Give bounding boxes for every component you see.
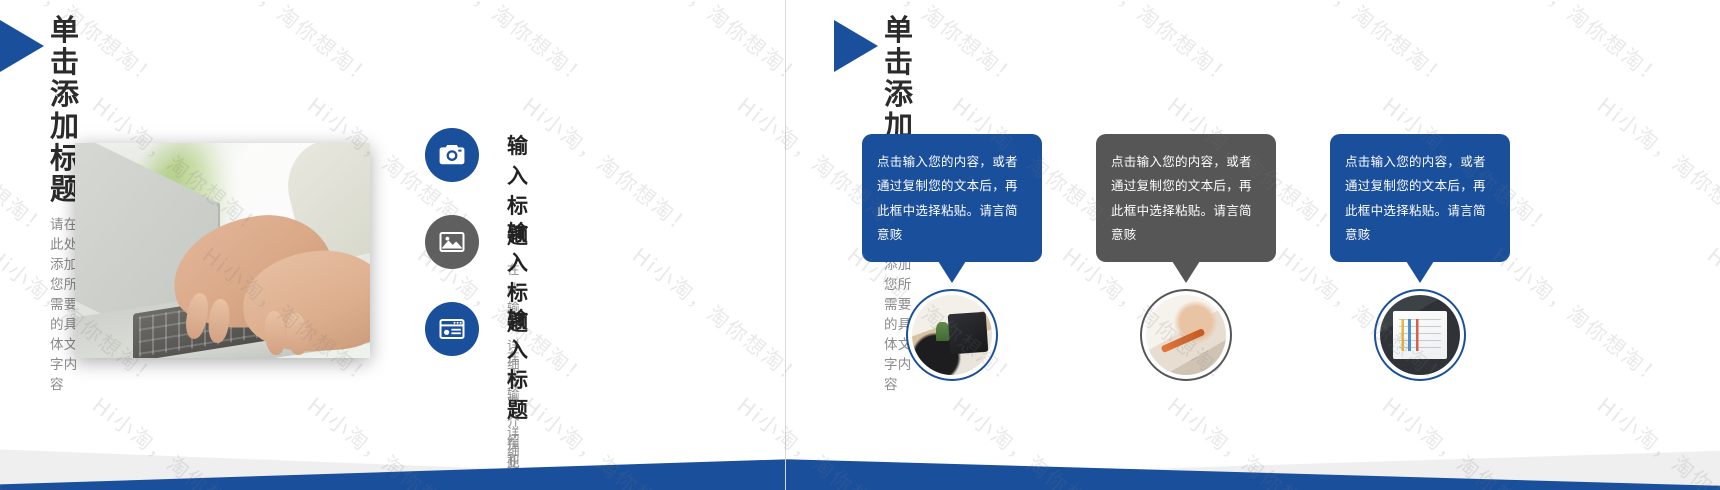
callout-bubble[interactable]: 点击输入您的内容，或者通过复制您的文本后，再此框中选择粘贴。请言简意赅 — [862, 134, 1042, 262]
charts-report-photo — [1374, 289, 1466, 381]
callout-bubble[interactable]: 点击输入您的内容，或者通过复制您的文本后，再此框中选择粘贴。请言简意赅 — [1096, 134, 1276, 262]
camera-icon — [425, 128, 479, 182]
triangle-right-icon — [834, 20, 878, 72]
callout-2[interactable]: 点击输入您的内容，或者通过复制您的文本后，再此框中选择粘贴。请言简意赅 — [1096, 134, 1276, 262]
hand-writing-photo — [1140, 289, 1232, 381]
callout-text: 点击输入您的内容，或者通过复制您的文本后，再此框中选择粘贴。请言简意赅 — [877, 154, 1018, 242]
list-item-title: 输入标题 — [507, 304, 529, 424]
callout-3[interactable]: 点击输入您的内容，或者通过复制您的文本后，再此框中选择粘贴。请言简意赅 — [1330, 134, 1510, 262]
slide-right: 单击添加标题 请在此处添加您所需要的具体文字内容 点击输入您的内容，或者通过复制… — [786, 0, 1720, 490]
callout-bubble[interactable]: 点击输入您的内容，或者通过复制您的文本后，再此框中选择粘贴。请言简意赅 — [1330, 134, 1510, 262]
hands-typing-on-laptop-photo — [75, 143, 370, 358]
bubble-tail-icon — [938, 261, 966, 283]
image-icon — [425, 215, 479, 269]
triangle-right-icon — [0, 20, 44, 72]
browser-icon — [425, 302, 479, 356]
slide-left: 单击添加标题 请在此处添加您所需要的具体文字内容 — [0, 0, 785, 490]
callout-1[interactable]: 点击输入您的内容，或者通过复制您的文本后，再此框中选择粘贴。请言简意赅 — [862, 134, 1042, 262]
bubble-tail-icon — [1406, 261, 1434, 283]
desk-laptop-photo — [906, 289, 998, 381]
slide-canvas: 单击添加标题 请在此处添加您所需要的具体文字内容 — [0, 0, 1720, 490]
callout-text: 点击输入您的内容，或者通过复制您的文本后，再此框中选择粘贴。请言简意赅 — [1111, 154, 1252, 242]
panel-divider — [785, 0, 786, 490]
callout-text: 点击输入您的内容，或者通过复制您的文本后，再此框中选择粘贴。请言简意赅 — [1345, 154, 1486, 242]
bubble-tail-icon — [1172, 261, 1200, 283]
